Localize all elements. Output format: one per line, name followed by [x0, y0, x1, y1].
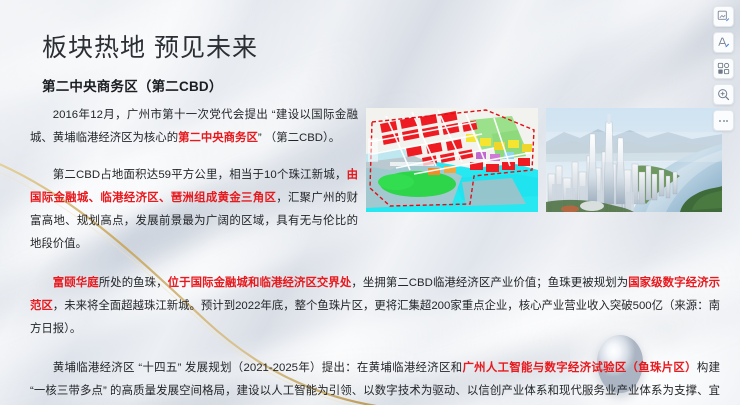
p3-highlight-2: 位于国际金融城和临港经济区交界处	[168, 277, 352, 289]
section-heading: 第二中央商务区（第二CBD）	[42, 75, 223, 95]
image-edit-icon	[717, 10, 730, 23]
more-options-icon-button[interactable]	[713, 110, 734, 131]
paragraph-2: 第二CBD占地面积达59平方公里，相当于10个珠江新城，由国际金融城、临港经济区…	[30, 164, 358, 256]
second-cbd-zoning-map	[366, 108, 538, 212]
more-options-icon	[719, 120, 728, 122]
p3-seg1: 所处的鱼珠，	[99, 277, 168, 289]
zoom-in-icon-button[interactable]	[713, 84, 734, 105]
paragraph-4: 黄埔临港经济区 “十四五” 发展规划（2021-2025年）提出：在黄埔临港经济…	[30, 357, 720, 405]
paragraph-1: 2016年12月，广州市第十一次党代会提出 “建设以国际金融城、黄埔临港经济区为…	[30, 104, 358, 150]
layout-grid-icon	[717, 62, 730, 75]
p2-seg1: 第二CBD占地面积达59平方公里，相当于10个珠江新城，	[53, 169, 347, 181]
p3-seg3: ，未来将全面超越珠江新城。预计到2022年底，整个鱼珠片区，更将汇集超200家重…	[30, 300, 720, 335]
skyline-rendering-graphic	[546, 108, 722, 212]
cbd-skyline-rendering	[546, 108, 722, 212]
text-edit-icon	[717, 36, 730, 49]
zoning-map-graphic	[366, 108, 538, 212]
layout-grid-icon-button[interactable]	[713, 58, 734, 79]
p1-seg2: ” （第二CBD）。	[258, 132, 340, 144]
p4-highlight-1: 广州人工智能与数字经济试验区（鱼珠片区）	[462, 362, 696, 374]
presentation-slide: 板块热地 预见未来 第二中央商务区（第二CBD） 2016年12月，广州市第十一…	[0, 0, 740, 405]
paragraph-3: 富颐华庭所处的鱼珠，位于国际金融城和临港经济区交界处，坐拥第二CBD临港经济区产…	[30, 272, 720, 341]
p4-seg1: 黄埔临港经济区 “十四五” 发展规划（2021-2025年）提出：在黄埔临港经济…	[53, 362, 463, 374]
page-title: 板块热地 预见未来	[42, 28, 258, 64]
text-edit-icon-button[interactable]	[713, 32, 734, 53]
figure-group	[366, 108, 722, 212]
zoom-in-icon	[717, 88, 730, 101]
image-edit-icon-button[interactable]	[713, 6, 734, 27]
p3-seg2: ，坐拥第二CBD临港经济区产业价值；鱼珠更被规划为	[351, 277, 628, 289]
p3-highlight-1: 富颐华庭	[53, 277, 99, 289]
p1-highlight-1: 第二中央商务区	[178, 132, 258, 144]
floating-toolbar[interactable]	[713, 6, 734, 131]
